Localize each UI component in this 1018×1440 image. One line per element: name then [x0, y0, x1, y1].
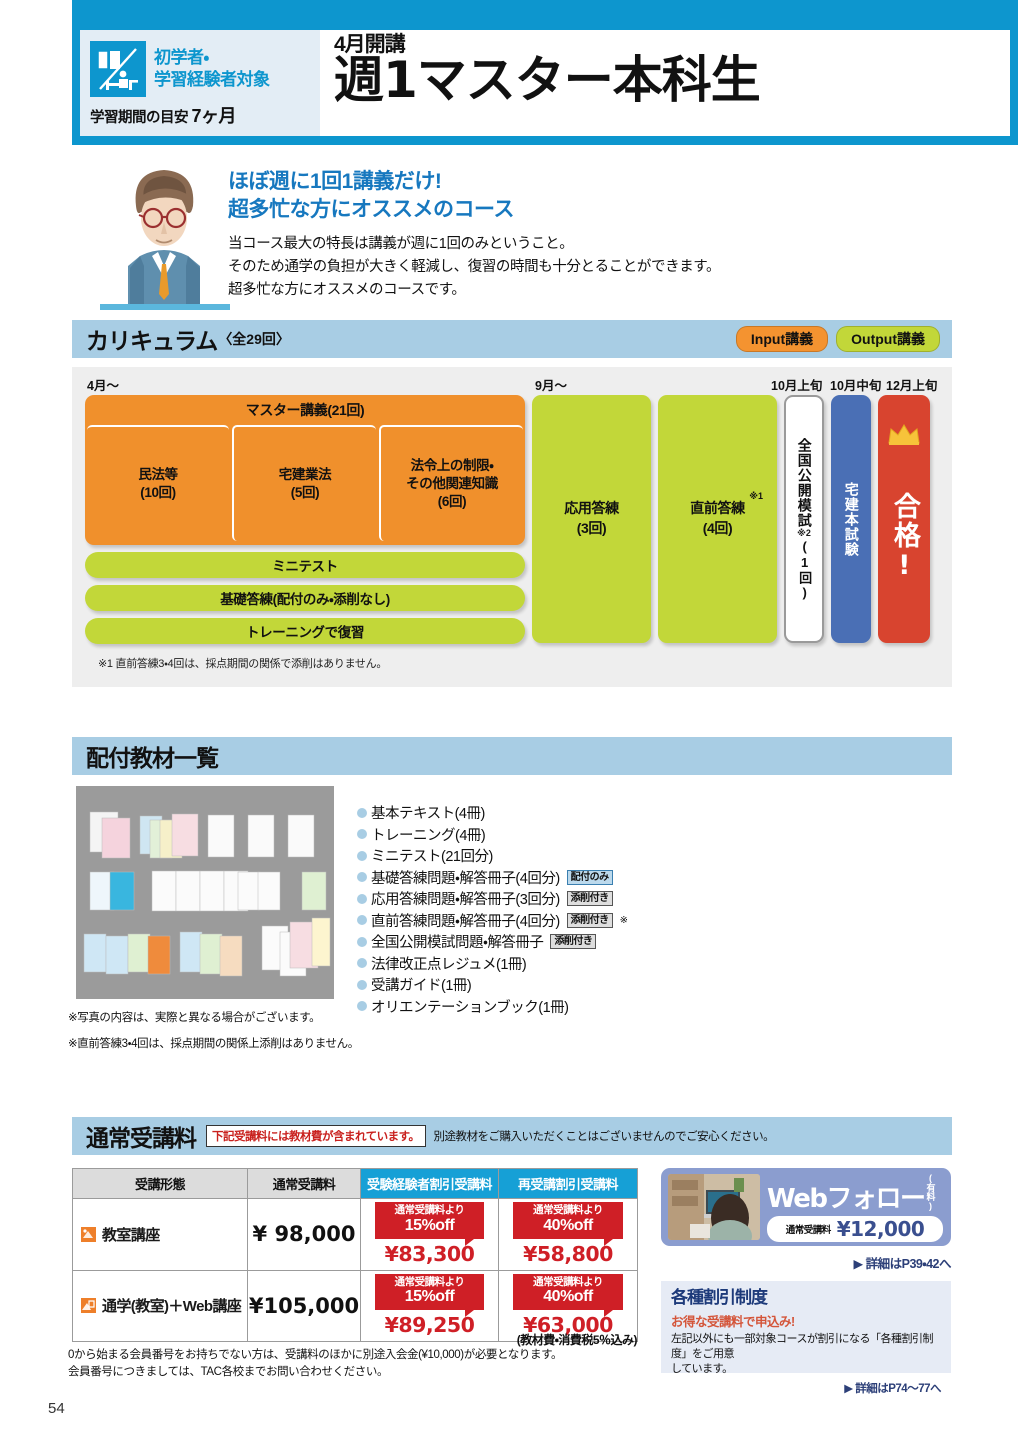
classroom-web-icon — [81, 1298, 96, 1313]
pass-box: 合格! — [878, 395, 930, 643]
curriculum-flow: マスター講義(21回) 民法等 (10回) 宅建業法 (5回) — [85, 395, 941, 645]
green-bar-basic-drill: 基礎答練(配付のみ・添削なし) — [85, 585, 525, 611]
crown-icon — [887, 423, 921, 450]
fees-section-title: 通常受講料 — [86, 1119, 196, 1153]
bullet-icon — [357, 851, 367, 861]
list-item: 法律改正点レジュメ(1冊) — [357, 953, 857, 975]
discount-percent: 40%off — [513, 1288, 623, 1306]
legend-output-lecture: Output講義 — [836, 326, 940, 352]
normal-fee-value: ¥ 98,000 — [253, 1222, 356, 1246]
col-header-normal-fee: 通常受講料 — [248, 1169, 361, 1199]
web-follow-price-bar: 通常受講料 ¥12,000 — [767, 1216, 943, 1242]
master-lecture-title: マスター講義(21回) — [85, 395, 525, 425]
intro-headline: ほぼ週に1回1講義だけ! 超多忙な方にオススメのコース — [228, 168, 988, 225]
master-lecture-group: マスター講義(21回) 民法等 (10回) 宅建業法 (5回) — [85, 395, 525, 645]
brochure-page: 初学者・ 学習経験者対象 学習期間の目安 7ヶ月 4月開講 週1マスター本科生 — [0, 0, 1018, 1440]
materials-section-title: 配付教材一覧 — [86, 739, 218, 773]
discount-body-1: 左記以外にも一部対象コースが割引になる「各種割引制度」をご用意 — [671, 1332, 941, 1363]
duration-label: 学習期間の目安 — [90, 110, 188, 126]
col-header-experienced-discount: 受験経験者割引受講料 — [361, 1169, 499, 1199]
list-item: 直前答練問題・解答冊子(4回分) 添削付き ※ — [357, 910, 857, 932]
col-header-type: 受講形態 — [73, 1169, 248, 1199]
material-tag: 配付のみ — [567, 870, 613, 885]
badge-line1: 初学者・ — [154, 47, 270, 68]
page-title: 週1マスター本科生 — [334, 54, 1010, 107]
web-follow-panel[interactable]: Webフォロー (有料) 通常受講料 ¥12,000 — [661, 1168, 951, 1246]
discount-systems-panel: 各種割引制度 お得な受講料で申込み! 左記以外にも一部対象コースが割引になる「各… — [661, 1281, 951, 1373]
material-tag: 添削付き — [567, 913, 613, 928]
course-title-card: 初学者・ 学習経験者対象 学習期間の目安 7ヶ月 4月開講 週1マスター本科生 — [78, 28, 1012, 138]
intro-body-2: そのため通学の負担が大きく軽減し、復習の時間も十分とることができます。 — [228, 256, 988, 279]
mock-exam-count: (1回) — [797, 539, 811, 601]
badge-audience-text: 初学者・ 学習経験者対象 — [154, 47, 270, 90]
timeline-label-april: 4月〜 — [87, 375, 119, 394]
discount-panel-title: 各種割引制度 — [671, 1289, 941, 1308]
mock-exam-footnote-mark: ※2 — [797, 528, 811, 539]
web-follow-title: Webフォロー — [767, 1186, 925, 1212]
materials-note-drill: ※直前答練3・4回は、採点期間の関係上添削はありません。 — [68, 1035, 359, 1051]
discount-flag: 通常受講料より 40%off — [513, 1274, 623, 1311]
material-tag: 添削付き — [550, 934, 596, 949]
fee-footnote-1: 0から始まる会員番号をお持ちでない方は、受講料のほかに別途入会金(¥10,000… — [68, 1347, 562, 1364]
web-follow-price: ¥12,000 — [837, 1217, 925, 1241]
master-subject-legal-restrictions: 法令上の制限・ その他関連知識 (6回) — [379, 425, 523, 541]
direct-drill-footnote-mark: ※1 — [749, 491, 763, 502]
material-label: 基本テキスト(4冊) — [371, 802, 485, 823]
discount-detail-link[interactable]: ▶ 詳細はP74〜77へ — [671, 1380, 941, 1396]
intro-headline-1: ほぼ週に1回1講義だけ! — [228, 168, 988, 196]
curriculum-diagram: 4月〜 9月〜 10月上旬 10月中旬 12月上旬 マスター講義(21回) 民法… — [72, 367, 952, 687]
master-subject-civil-law: 民法等 (10回) — [87, 425, 229, 541]
curriculum-session-count: 〈全29回〉 — [218, 329, 290, 349]
applied-drill-label: 応用答練 — [564, 499, 618, 519]
study-duration: 学習期間の目安 7ヶ月 — [90, 102, 312, 128]
bullet-icon — [357, 937, 367, 947]
material-label: トレーニング(4冊) — [371, 824, 485, 845]
applied-drill-count: (3回) — [564, 519, 618, 539]
timeline-label-september: 9月〜 — [535, 375, 567, 394]
web-follow-detail-link[interactable]: ▶ 詳細はP39・42へ — [661, 1253, 951, 1272]
discount-from-label: 通常受講料より — [513, 1277, 623, 1289]
cell-course-type: 教室講座 — [73, 1199, 248, 1271]
discount-percent: 15%off — [375, 1217, 484, 1235]
web-follow-price-label: 通常受講料 — [786, 1222, 831, 1236]
bullet-icon — [357, 872, 367, 882]
direct-drill-box: ※1 直前答練 (4回) — [658, 395, 777, 643]
discount-from-label: 通常受講料より — [375, 1277, 484, 1289]
fee-table: 受講形態 通常受講料 受験経験者割引受講料 再受講割引受講料 — [72, 1168, 638, 1342]
cell-experienced-discount: 通常受講料より 15%off ¥83,300 — [361, 1199, 499, 1271]
material-label: 基礎答練問題・解答冊子(4回分) — [371, 867, 560, 888]
list-item: 基礎答練問題・解答冊子(4回分) 配付のみ — [357, 867, 857, 889]
material-label: オリエンテーションブック(1冊) — [371, 996, 569, 1017]
materials-section-header: 配付教材一覧 — [72, 737, 952, 775]
official-exam-box: 宅建本試験 — [831, 395, 871, 643]
intro-body: 当コース最大の特長は講義が週に1回のみということ。 そのため通学の負担が大きく軽… — [228, 233, 988, 303]
fees-section-header: 通常受講料 下記受講料には教材費が含まれています。 別途教材をご購入いただくこと… — [72, 1117, 952, 1155]
fees-included-note: 別途教材をご購入いただくことはございませんのでご安心ください。 — [434, 1128, 775, 1144]
list-item: 受講ガイド(1冊) — [357, 974, 857, 996]
curriculum-section-title: カリキュラム — [86, 322, 217, 356]
curriculum-section-header: カリキュラム 〈全29回〉 Input講義 Output講義 — [72, 320, 952, 358]
page-number: 54 — [48, 1400, 65, 1417]
course-type-label: 教室講座 — [102, 1224, 160, 1245]
curriculum-footnote: ※1 直前答練3・4回は、採点期間の関係で添削はありません。 — [98, 655, 387, 671]
intro-text-block: ほぼ週に1回1講義だけ! 超多忙な方にオススメのコース 当コース最大の特長は講義… — [228, 168, 988, 302]
list-item: 応用答練問題・解答冊子(3回分) 添削付き — [357, 888, 857, 910]
web-follow-paid-note: (有料) — [926, 1173, 935, 1211]
cell-normal-fee: ¥ 98,000 — [248, 1199, 361, 1271]
discount-body-2: しています。 — [671, 1362, 941, 1377]
pass-label: 合格! — [889, 492, 919, 583]
discount-percent: 15%off — [375, 1288, 484, 1306]
mock-exam-label: 全国公開模試 — [796, 438, 811, 528]
bullet-icon — [357, 808, 367, 818]
legend-input-lecture: Input講義 — [736, 326, 828, 352]
bullet-icon — [357, 915, 367, 925]
table-row: 教室講座 ¥ 98,000 通常受講料より 15%off ¥83,300 通常受… — [73, 1199, 638, 1271]
bullet-icon — [357, 1001, 367, 1011]
intro-headline-2: 超多忙な方にオススメのコース — [228, 196, 988, 224]
green-bar-training-review: トレーニングで復習 — [85, 618, 525, 644]
book-and-desk-icon — [90, 41, 146, 97]
tax-note: (教材費・消費税5％込み) — [72, 1331, 637, 1348]
duration-value: 7ヶ月 — [192, 106, 237, 126]
discount-from-label: 通常受講料より — [375, 1205, 484, 1217]
list-item: オリエンテーションブック(1冊) — [357, 996, 857, 1018]
discount-panel-body: 左記以外にも一部対象コースが割引になる「各種割引制度」をご用意 しています。 — [671, 1332, 941, 1378]
applied-drill-box: 応用答練 (3回) — [532, 395, 651, 643]
list-item: トレーニング(4冊) — [357, 824, 857, 846]
material-label: 応用答練問題・解答冊子(3回分) — [371, 888, 560, 909]
discount-percent: 40%off — [513, 1217, 623, 1235]
materials-list: 基本テキスト(4冊) トレーニング(4冊) ミニテスト(21回分) 基礎答練問題… — [357, 802, 857, 1017]
bullet-icon — [357, 829, 367, 839]
course-title-block: 4月開講 週1マスター本科生 — [320, 30, 1010, 136]
list-item: ミニテスト(21回分) — [357, 845, 857, 867]
fee-footnote: 0から始まる会員番号をお持ちでない方は、受講料のほかに別途入会金(¥10,000… — [68, 1347, 562, 1382]
master-lecture-box: マスター講義(21回) 民法等 (10回) 宅建業法 (5回) — [85, 395, 525, 545]
timeline-label-mid-october: 10月中旬 — [830, 375, 881, 394]
discount-price: ¥58,800 — [503, 1242, 633, 1266]
bullet-icon — [357, 894, 367, 904]
discount-flag: 通常受講料より 15%off — [375, 1202, 484, 1239]
businessman-avatar — [100, 160, 230, 310]
normal-fee-value: ¥105,000 — [249, 1294, 359, 1318]
intro-body-3: 超多忙な方にオススメのコースです。 — [228, 279, 988, 302]
material-tag: 添削付き — [567, 891, 613, 906]
course-type-label: 通学(教室)＋Web講座 — [102, 1295, 241, 1316]
official-exam-label: 宅建本試験 — [843, 482, 858, 557]
intro-section: ほぼ週に1回1講義だけ! 超多忙な方にオススメのコース 当コース最大の特長は講義… — [90, 160, 990, 310]
material-label: ミニテスト(21回分) — [371, 845, 493, 866]
study-materials-photo — [76, 786, 334, 999]
intro-body-1: 当コース最大の特長は講義が週に1回のみということ。 — [228, 233, 988, 256]
master-subject-business-law: 宅建業法 (5回) — [232, 425, 376, 541]
discount-flag: 通常受講料より 15%off — [375, 1274, 484, 1311]
discount-from-label: 通常受講料より — [513, 1205, 623, 1217]
table-header-row: 受講形態 通常受講料 受験経験者割引受講料 再受講割引受講料 — [73, 1169, 638, 1199]
material-label: 受講ガイド(1冊) — [371, 974, 471, 995]
woman-at-laptop-photo — [668, 1174, 760, 1240]
green-bar-mini-test: ミニテスト — [85, 552, 525, 578]
list-item: 全国公開模試問題・解答冊子 添削付き — [357, 931, 857, 953]
badge-line2: 学習経験者対象 — [154, 69, 270, 90]
discount-flag: 通常受講料より 40%off — [513, 1202, 623, 1239]
target-audience-badge: 初学者・ 学習経験者対象 学習期間の目安 7ヶ月 — [80, 30, 320, 136]
classroom-icon — [81, 1227, 96, 1242]
national-mock-exam-box: 全国公開模試 ※2 (1回) — [784, 395, 824, 643]
fees-included-badge: 下記受講料には教材費が含まれています。 — [206, 1125, 426, 1147]
cell-repeat-discount: 通常受講料より 40%off ¥58,800 — [499, 1199, 638, 1271]
materials-note-photo: ※写真の内容は、実際と異なる場合がございます。 — [68, 1009, 320, 1025]
bullet-icon — [357, 980, 367, 990]
bullet-icon — [357, 958, 367, 968]
direct-drill-label: 直前答練 — [690, 499, 744, 519]
fee-footnote-2: 会員番号につきましては、TAC各校までお問い合わせください。 — [68, 1364, 562, 1381]
material-label: 直前答練問題・解答冊子(4回分) — [371, 910, 560, 931]
material-footnote-mark: ※ — [620, 915, 628, 926]
col-header-repeat-discount: 再受講割引受講料 — [499, 1169, 638, 1199]
direct-drill-count: (4回) — [690, 519, 744, 539]
discount-price: ¥83,300 — [365, 1242, 494, 1266]
timeline-label-early-december: 12月上旬 — [886, 375, 937, 394]
list-item: 基本テキスト(4冊) — [357, 802, 857, 824]
material-label: 全国公開模試問題・解答冊子 — [371, 931, 543, 952]
discount-panel-subtitle: お得な受講料で申込み! — [671, 1311, 941, 1330]
material-label: 法律改正点レジュメ(1冊) — [371, 953, 526, 974]
timeline-label-early-october: 10月上旬 — [771, 375, 822, 394]
